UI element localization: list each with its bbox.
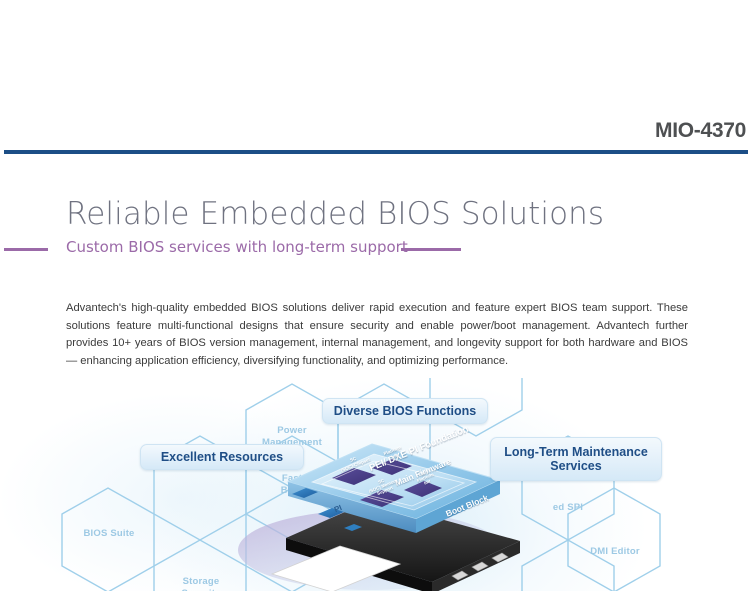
callout-long-term-maintenance-services[interactable]: Long-Term Maintenance Services xyxy=(490,437,662,481)
subtitle-rule-right xyxy=(401,248,461,251)
page-header: MIO-4370 xyxy=(0,0,750,160)
header-divider-rule xyxy=(4,150,748,154)
page-subtitle: Custom BIOS services with long-term supp… xyxy=(66,238,408,256)
intro-paragraph: Advantech's high-quality embedded BIOS s… xyxy=(66,300,688,370)
callout-excellent-resources[interactable]: Excellent Resources xyxy=(140,444,304,470)
product-code-label: MIO-4370 xyxy=(655,118,746,144)
subtitle-rule-left xyxy=(4,248,48,251)
subtitle-row: Custom BIOS services with long-term supp… xyxy=(0,238,750,260)
callout-diverse-bios-functions[interactable]: Diverse BIOS Functions xyxy=(322,398,488,424)
page-title: Reliable Embedded BIOS Solutions xyxy=(66,196,604,232)
